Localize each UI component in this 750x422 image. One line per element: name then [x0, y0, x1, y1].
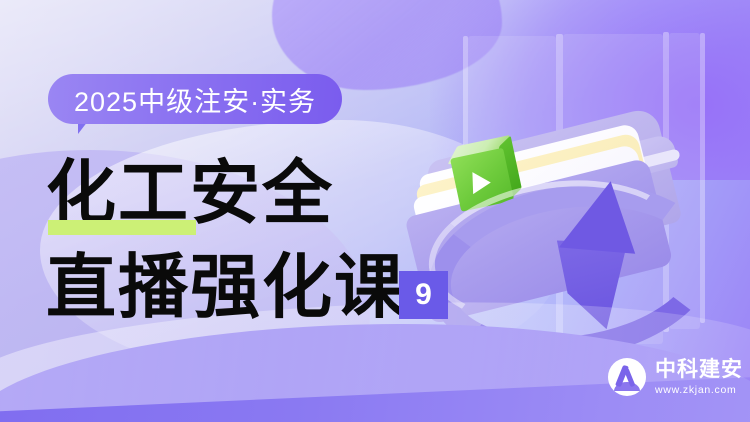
title-highlight-bar	[48, 220, 196, 235]
course-promo-banner: 2025中级注安·实务 化工安全 直播强化课 9 中科建安 www.zkjan.…	[0, 0, 750, 422]
banner-title-line-2: 直播强化课	[46, 252, 406, 322]
person-mountain-logo-icon	[608, 358, 646, 396]
banner-content: 2025中级注安·实务 化工安全 直播强化课 9 中科建安 www.zkjan.…	[0, 0, 750, 422]
course-category-tag: 2025中级注安·实务	[48, 74, 342, 124]
episode-number-badge: 9	[399, 271, 448, 319]
banner-title-line-1: 化工安全	[46, 158, 334, 228]
brand-logo: 中科建安 www.zkjan.com	[608, 358, 743, 396]
brand-name: 中科建安	[655, 359, 743, 380]
brand-logo-text: 中科建安 www.zkjan.com	[655, 359, 743, 396]
brand-website: www.zkjan.com	[655, 385, 743, 396]
